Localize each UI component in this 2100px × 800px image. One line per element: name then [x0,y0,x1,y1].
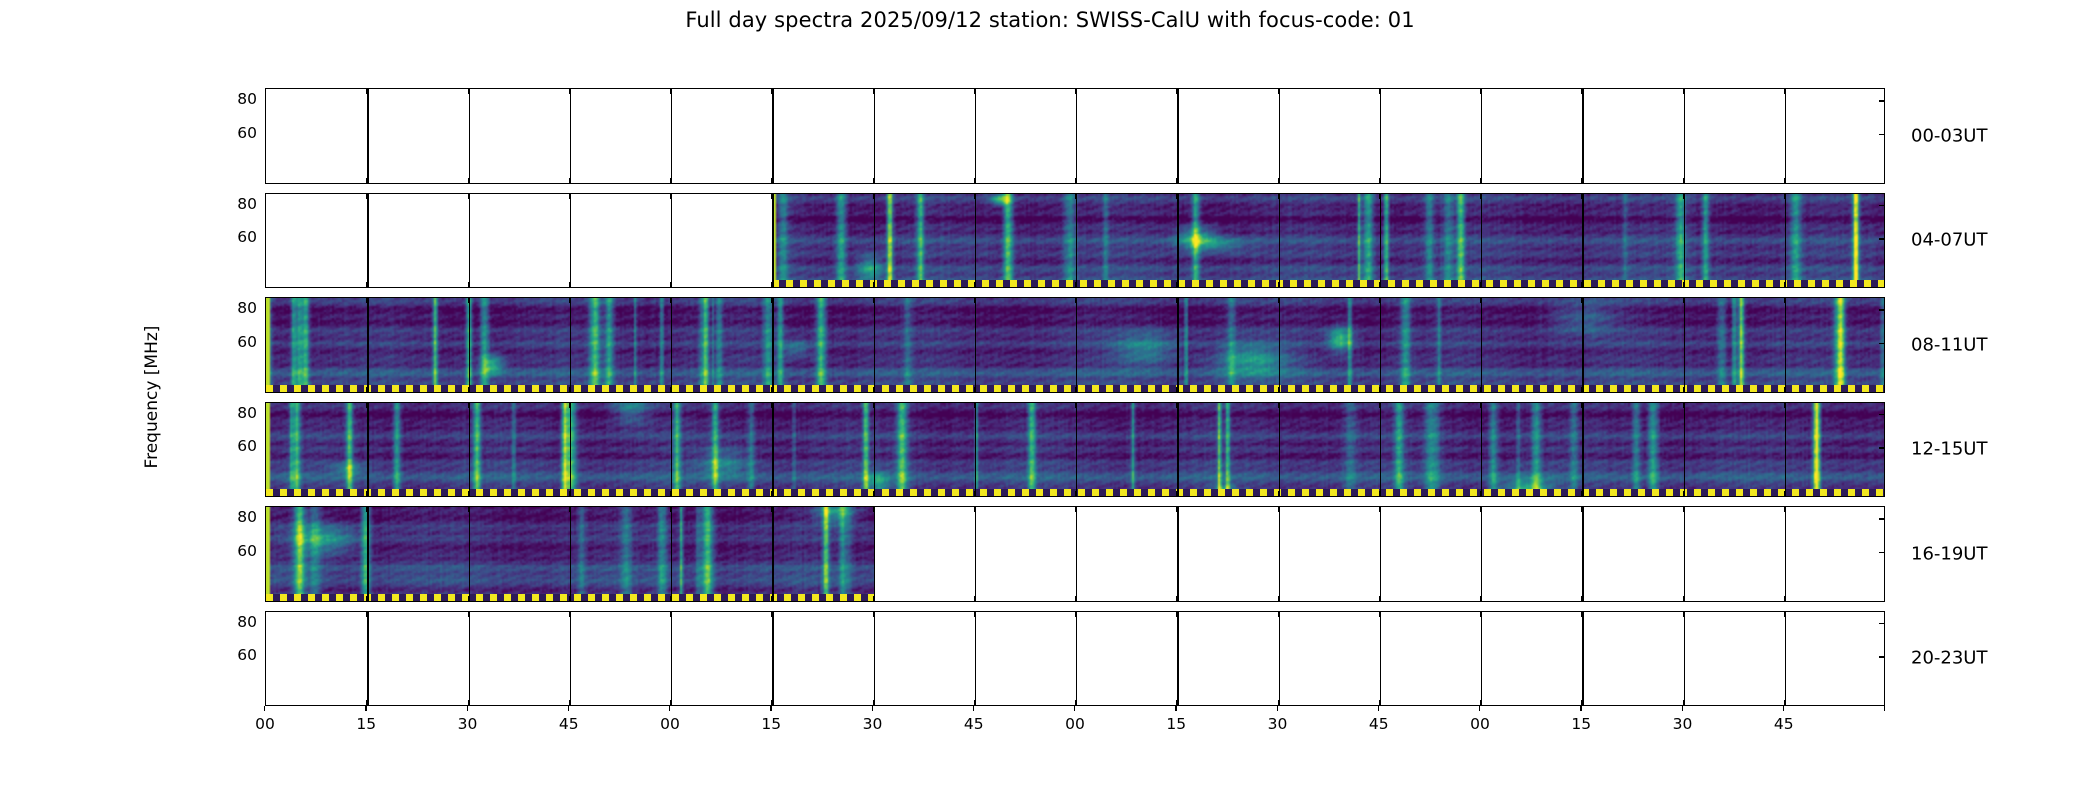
x-tick-mark [1581,194,1582,199]
x-tick-mark [771,387,772,392]
y-tick-mark [265,205,266,206]
x-tick-mark [366,507,367,512]
plot-area: 806000-03UT806004-07UT806008-11UT806012-… [265,88,1885,706]
y-tick-mark [265,518,266,519]
x-tick-mark [1075,612,1076,617]
x-tick-mark [670,194,671,199]
x-axis-tick-label: 00 [660,715,680,733]
x-tick-mark [873,298,874,303]
x-tick-mark [873,491,874,496]
cell-separator [1076,403,1077,497]
cell-separator [1582,89,1583,183]
x-tick-mark [873,89,874,94]
x-tick-mark [1683,282,1684,287]
timing-dash-strip [772,280,1885,287]
cell-separator [570,612,571,706]
x-tick-mark [670,298,671,303]
x-tick-mark [569,700,570,705]
cell-separator [469,507,470,601]
x-axis-tick-label: 30 [1673,715,1693,733]
x-tick-mark [1278,596,1279,601]
cell-separator [1481,89,1482,183]
cell-separator [1481,403,1482,497]
x-tick-mark [670,596,671,601]
y-tick-mark-inner [1879,100,1884,101]
x-axis-tick-label: 30 [458,715,478,733]
x-tick-mark [1379,178,1380,183]
x-axis-tick [872,706,873,711]
cell-separator [1279,89,1280,183]
x-tick-mark [974,403,975,408]
x-tick-mark [1278,507,1279,512]
y-tick-label: 80 [237,404,257,422]
row-inner [266,403,1884,497]
y-tick-mark-inner [1879,447,1884,448]
x-axis-tick-label: 15 [1571,715,1591,733]
y-tick-mark [265,100,266,101]
x-tick-mark [1480,596,1481,601]
x-tick-mark [1278,194,1279,199]
cell-separator [1684,194,1685,288]
x-axis-tick [1884,706,1885,711]
cell-separator [570,298,571,392]
x-tick-mark [1278,178,1279,183]
x-axis-tick-label: 30 [863,715,883,733]
x-axis-tick [1074,706,1075,711]
x-tick-mark [670,282,671,287]
x-tick-mark [1683,491,1684,496]
x-tick-mark [771,612,772,617]
x-tick-mark [1480,194,1481,199]
x-tick-mark [873,612,874,617]
cell-separator [975,403,976,497]
x-tick-mark [1784,403,1785,408]
x-tick-mark [366,387,367,392]
x-axis-tick [973,706,974,711]
x-tick-mark [1784,194,1785,199]
cell-separator [1582,298,1583,392]
x-tick-mark [1480,491,1481,496]
cell-separator [570,507,571,601]
x-axis-tick [1378,706,1379,711]
x-tick-mark [468,403,469,408]
x-axis-tick-label: 00 [255,715,275,733]
x-tick-mark [1784,89,1785,94]
x-tick-mark [1176,612,1177,617]
x-tick-mark [1379,89,1380,94]
x-tick-mark [366,403,367,408]
row-time-label: 04-07UT [1911,230,1987,251]
x-tick-mark [670,403,671,408]
x-tick-mark [366,89,367,94]
x-axis-tick [467,706,468,711]
cell-separator [874,89,875,183]
cell-separator [671,612,672,706]
figure-canvas: Full day spectra 2025/09/12 station: SWI… [0,0,2100,800]
x-tick-mark [569,403,570,408]
cell-separator [975,194,976,288]
x-tick-mark [1278,491,1279,496]
cell-separator [1076,194,1077,288]
x-tick-mark [569,612,570,617]
spectrogram-canvas [772,194,1885,288]
x-tick-mark [1176,194,1177,199]
cell-separator [1785,194,1786,288]
x-tick-mark [468,491,469,496]
x-tick-mark [468,89,469,94]
x-tick-mark [1379,700,1380,705]
cell-separator [1076,89,1077,183]
x-tick-mark [1581,298,1582,303]
x-tick-mark [1176,596,1177,601]
x-tick-mark [1581,507,1582,512]
x-tick-mark [1278,298,1279,303]
x-tick-mark [1075,298,1076,303]
y-tick-label: 80 [237,299,257,317]
y-tick-label: 80 [237,90,257,108]
x-tick-mark [1784,612,1785,617]
x-tick-mark [366,491,367,496]
cell-separator [1279,612,1280,706]
y-tick-mark-inner [1879,414,1884,415]
x-tick-mark [366,298,367,303]
x-tick-mark [1480,700,1481,705]
x-tick-mark [1784,700,1785,705]
spectrogram-row [265,297,1885,393]
x-tick-mark [771,507,772,512]
x-tick-mark [1075,282,1076,287]
x-tick-mark [1784,298,1785,303]
x-tick-mark [1480,403,1481,408]
row-time-label: 12-15UT [1911,439,1987,460]
x-tick-mark [366,700,367,705]
x-tick-mark [1176,282,1177,287]
x-axis-tick [1682,706,1683,711]
x-tick-mark [1075,403,1076,408]
x-tick-mark [1075,194,1076,199]
cell-separator [975,612,976,706]
x-tick-mark [873,700,874,705]
x-tick-mark [670,387,671,392]
cell-separator [1076,298,1077,392]
x-axis-tick [568,706,569,711]
x-tick-mark [1581,178,1582,183]
cell-separator [367,298,368,392]
cell-separator [1177,612,1178,706]
x-tick-mark [1075,700,1076,705]
x-tick-mark [1784,282,1785,287]
x-tick-mark [1379,612,1380,617]
row-time-label: 00-03UT [1911,125,1987,146]
x-tick-mark [1176,507,1177,512]
x-axis-tick [770,706,771,711]
x-tick-mark [366,282,367,287]
cell-separator [1279,194,1280,288]
spectrogram-row [265,506,1885,602]
x-tick-mark [1784,491,1785,496]
cell-separator [874,194,875,288]
x-tick-mark [1379,194,1380,199]
cell-separator [570,194,571,288]
cell-separator [1481,298,1482,392]
x-tick-mark [1683,596,1684,601]
cell-separator [874,403,875,497]
cell-separator [1785,507,1786,601]
x-axis-tick [1175,706,1176,711]
x-tick-mark [468,282,469,287]
x-tick-mark [1581,491,1582,496]
x-tick-mark [1480,298,1481,303]
cell-separator [1380,194,1381,288]
x-tick-mark [771,89,772,94]
y-tick-mark-inner [1879,552,1884,553]
row-time-label: 20-23UT [1911,648,1987,669]
cell-separator [671,403,672,497]
x-tick-mark [569,194,570,199]
cell-separator [1684,403,1685,497]
x-tick-mark [468,596,469,601]
x-tick-mark [1480,612,1481,617]
y-axis-label: Frequency [MHz] [142,326,162,469]
cell-separator [1177,194,1178,288]
cell-separator [772,507,773,601]
cell-separator [1582,403,1583,497]
cell-separator [1684,298,1685,392]
row-inner [266,507,1884,601]
x-tick-mark [1379,387,1380,392]
x-tick-mark [1379,507,1380,512]
x-tick-mark [1176,491,1177,496]
x-tick-mark [873,507,874,512]
row-inner [266,298,1884,392]
x-tick-mark [873,387,874,392]
x-tick-mark [1581,89,1582,94]
x-tick-mark [974,507,975,512]
x-tick-mark [873,403,874,408]
cell-separator [1177,298,1178,392]
x-tick-mark [1075,507,1076,512]
y-tick-mark-inner [1879,238,1884,239]
y-tick-mark [265,447,266,448]
x-tick-mark [1683,403,1684,408]
cell-separator [1582,507,1583,601]
x-tick-mark [974,596,975,601]
x-tick-mark [569,282,570,287]
cell-separator [671,298,672,392]
cell-separator [671,89,672,183]
x-axis-tick-label: 15 [761,715,781,733]
cell-separator [1076,507,1077,601]
x-tick-mark [1379,596,1380,601]
figure-title: Full day spectra 2025/09/12 station: SWI… [0,8,2100,32]
x-tick-mark [1176,89,1177,94]
x-axis-tick [669,706,670,711]
cell-separator [671,194,672,288]
cell-separator [469,194,470,288]
x-tick-mark [366,612,367,617]
cell-separator [874,507,875,601]
x-tick-mark [366,596,367,601]
cell-separator [1481,507,1482,601]
x-tick-mark [1683,178,1684,183]
x-axis: 00153045001530450015304500153045 [265,706,1885,746]
x-axis-tick-label: 45 [964,715,984,733]
cell-separator [469,403,470,497]
cell-separator [1785,89,1786,183]
cell-separator [367,89,368,183]
cell-separator [772,612,773,706]
x-tick-mark [974,700,975,705]
y-tick-label: 80 [237,508,257,526]
x-tick-mark [974,194,975,199]
cell-separator [1684,89,1685,183]
cell-separator [1380,298,1381,392]
y-tick-label: 80 [237,195,257,213]
x-tick-mark [1075,387,1076,392]
x-tick-mark [1784,387,1785,392]
x-tick-mark [1075,596,1076,601]
cell-separator [975,298,976,392]
cell-separator [1582,612,1583,706]
y-tick-mark-inner [1879,656,1884,657]
y-tick-mark [265,238,266,239]
x-tick-mark [1581,700,1582,705]
cell-separator [772,403,773,497]
cell-separator [367,403,368,497]
x-axis-tick [1277,706,1278,711]
x-tick-mark [1480,507,1481,512]
cell-separator [772,194,773,288]
y-tick-label: 60 [237,437,257,455]
y-tick-label: 60 [237,646,257,664]
x-axis-tick-label: 30 [1268,715,1288,733]
x-tick-mark [569,387,570,392]
x-tick-mark [771,298,772,303]
x-tick-mark [1176,387,1177,392]
cell-separator [1380,89,1381,183]
x-tick-mark [771,700,772,705]
x-tick-mark [1784,596,1785,601]
x-tick-mark [670,612,671,617]
cell-separator [469,612,470,706]
cell-separator [1785,403,1786,497]
cell-separator [469,298,470,392]
x-tick-mark [873,596,874,601]
x-tick-mark [569,89,570,94]
x-axis-tick-label: 45 [559,715,579,733]
x-tick-mark [1278,89,1279,94]
cell-separator [570,403,571,497]
x-axis-tick [264,706,265,711]
x-axis-tick-label: 00 [1470,715,1490,733]
x-axis-tick-label: 45 [1774,715,1794,733]
x-tick-mark [974,282,975,287]
y-tick-mark-inner [1879,343,1884,344]
cell-separator [1177,507,1178,601]
x-tick-mark [468,178,469,183]
x-tick-mark [771,491,772,496]
y-tick-mark-inner [1879,623,1884,624]
cell-separator [1582,194,1583,288]
cell-separator [1481,612,1482,706]
spectrogram-image [772,194,1885,288]
x-tick-mark [974,387,975,392]
row-inner [266,89,1884,183]
x-tick-mark [670,178,671,183]
x-tick-mark [468,298,469,303]
x-tick-mark [1581,387,1582,392]
x-tick-mark [670,507,671,512]
y-tick-mark-inner [1879,134,1884,135]
x-tick-mark [1683,387,1684,392]
y-tick-mark [265,552,266,553]
y-tick-mark-inner [1879,205,1884,206]
x-tick-mark [1581,282,1582,287]
x-tick-mark [1480,282,1481,287]
cell-separator [367,612,368,706]
cell-separator [1380,507,1381,601]
x-tick-mark [468,194,469,199]
x-tick-mark [569,178,570,183]
x-axis-tick-label: 15 [1166,715,1186,733]
cell-separator [975,89,976,183]
x-tick-mark [1480,178,1481,183]
x-tick-mark [670,491,671,496]
x-tick-mark [1581,612,1582,617]
x-tick-mark [771,403,772,408]
x-tick-mark [1379,282,1380,287]
x-tick-mark [974,491,975,496]
cell-separator [1785,612,1786,706]
x-tick-mark [1278,282,1279,287]
x-tick-mark [1480,387,1481,392]
x-axis-tick [1783,706,1784,711]
y-tick-label: 60 [237,124,257,142]
x-tick-mark [974,89,975,94]
x-tick-mark [771,596,772,601]
x-tick-mark [468,700,469,705]
y-tick-mark [265,656,266,657]
y-tick-label: 60 [237,542,257,560]
cell-separator [671,507,672,601]
x-tick-mark [1581,596,1582,601]
cell-separator [975,507,976,601]
x-tick-mark [1075,89,1076,94]
x-tick-mark [1278,700,1279,705]
x-tick-mark [873,178,874,183]
x-tick-mark [1379,491,1380,496]
y-tick-mark-inner [1879,309,1884,310]
x-tick-mark [1581,403,1582,408]
y-tick-mark [265,414,266,415]
x-tick-mark [1784,178,1785,183]
spectrogram-row [265,611,1885,707]
x-tick-mark [1176,403,1177,408]
cell-separator [1785,298,1786,392]
x-tick-mark [974,612,975,617]
cell-separator [1684,507,1685,601]
x-tick-mark [1278,612,1279,617]
x-axis-tick-label: 45 [1369,715,1389,733]
row-inner [266,194,1884,288]
x-tick-mark [1683,507,1684,512]
spectrogram-row [265,88,1885,184]
cell-separator [1177,89,1178,183]
x-tick-mark [670,89,671,94]
x-tick-mark [1176,298,1177,303]
cell-separator [1380,612,1381,706]
cell-separator [772,298,773,392]
